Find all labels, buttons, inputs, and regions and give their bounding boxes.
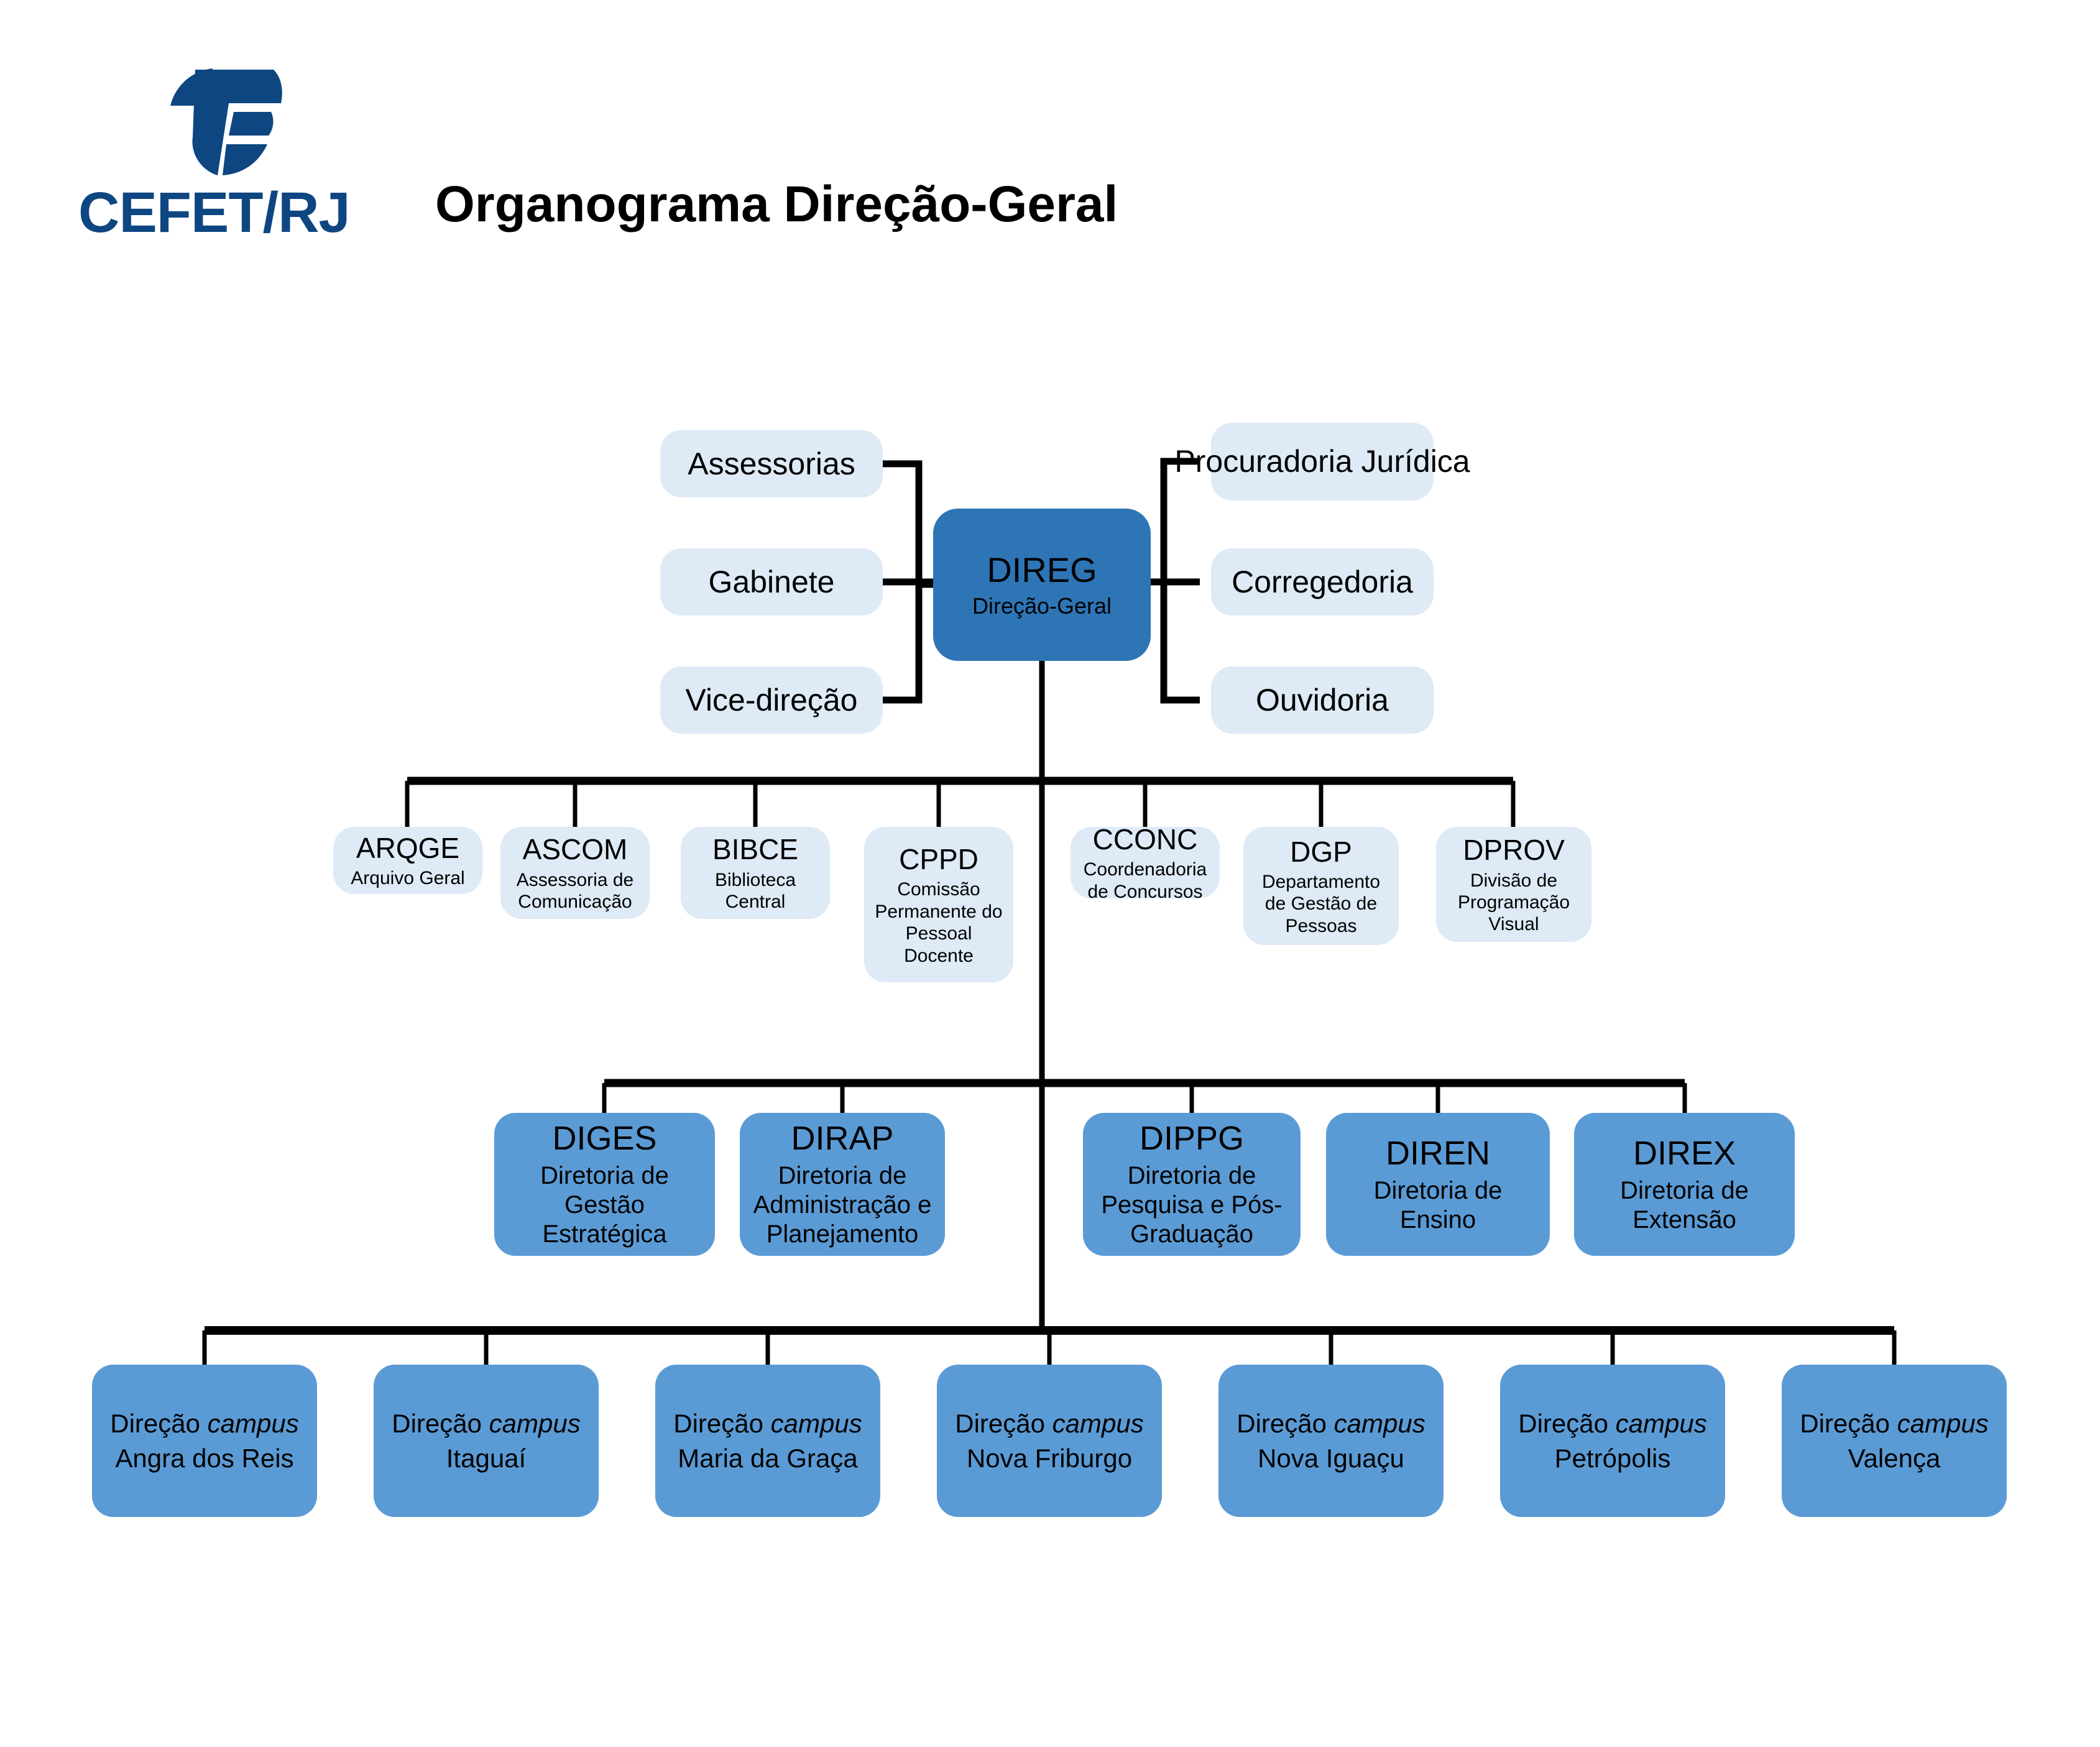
node-bibce-code: BIBCE — [712, 832, 798, 866]
node-cconc-desc: Coordenadoria de Concursos — [1077, 859, 1213, 903]
node-dgp-code: DGP — [1290, 835, 1352, 869]
node-gabinete-label: Gabinete — [709, 564, 835, 601]
node-dprov-desc: Divisão de Programação Visual — [1442, 870, 1585, 936]
node-dirap-desc: Diretoria de Administração e Planejament… — [746, 1161, 939, 1250]
node-direg[interactable]: DIREG Direção-Geral — [933, 509, 1151, 661]
node-cppd[interactable]: CPPD Comissão Permanente do Pessoal Doce… — [864, 827, 1013, 982]
node-dippg-desc: Diretoria de Pesquisa e Pós-Graduação — [1089, 1161, 1294, 1250]
node-arqge-code: ARQGE — [356, 831, 459, 865]
node-dirap-code: DIRAP — [791, 1119, 893, 1159]
node-dgp[interactable]: DGP Departamento de Gestão de Pessoas — [1243, 827, 1399, 945]
campus-prefix: Direção campus — [110, 1408, 298, 1439]
node-diren[interactable]: DIREN Diretoria de Ensino — [1326, 1113, 1550, 1256]
node-gabinete[interactable]: Gabinete — [660, 548, 883, 615]
campus-name: Maria da Graça — [678, 1443, 857, 1474]
campus-prefix: Direção campus — [673, 1408, 862, 1439]
node-assessorias[interactable]: Assessorias — [660, 430, 883, 497]
node-corregedoria-label: Corregedoria — [1232, 564, 1413, 601]
node-procuradoria-juridica[interactable]: Procuradoria Jurídica — [1211, 423, 1434, 500]
campus-prefix: Direção campus — [955, 1408, 1143, 1439]
node-dirap[interactable]: DIRAP Diretoria de Administração e Plane… — [740, 1113, 945, 1256]
node-diren-code: DIREN — [1386, 1134, 1490, 1174]
node-assessorias-label: Assessorias — [688, 446, 855, 482]
node-direg-code: DIREG — [987, 550, 1097, 591]
node-ascom[interactable]: ASCOM Assessoria de Comunicação — [500, 827, 650, 919]
node-bibce-desc: Biblioteca Central — [687, 869, 824, 913]
node-cppd-desc: Comissão Permanente do Pessoal Docente — [870, 878, 1007, 967]
node-dippg[interactable]: DIPPG Diretoria de Pesquisa e Pós-Gradua… — [1083, 1113, 1301, 1256]
organogram-page: CEFET/RJ Organograma Direção-Geral — [0, 0, 2100, 1747]
node-procuradoria-juridica-label: Procuradoria Jurídica — [1174, 445, 1470, 479]
node-campus-nova-iguacu[interactable]: Direção campus Nova Iguaçu — [1218, 1365, 1444, 1517]
node-corregedoria[interactable]: Corregedoria — [1211, 548, 1434, 615]
node-dprov-code: DPROV — [1463, 833, 1565, 867]
node-arqge[interactable]: ARQGE Arquivo Geral — [333, 827, 482, 894]
org-chart: DIREG Direção-Geral Assessorias Gabinete… — [0, 0, 2100, 1747]
campus-name: Itaguaí — [446, 1443, 526, 1474]
node-dippg-code: DIPPG — [1140, 1119, 1244, 1159]
node-ouvidoria-label: Ouvidoria — [1256, 682, 1389, 719]
node-vice-direcao-label: Vice-direção — [685, 682, 857, 719]
node-ouvidoria[interactable]: Ouvidoria — [1211, 666, 1434, 734]
node-campus-petropolis[interactable]: Direção campus Petrópolis — [1500, 1365, 1725, 1517]
node-diges-desc: Diretoria de Gestão Estratégica — [500, 1161, 709, 1250]
campus-prefix: Direção campus — [1237, 1408, 1425, 1439]
node-campus-itaguai[interactable]: Direção campus Itaguaí — [374, 1365, 599, 1517]
campus-prefix: Direção campus — [392, 1408, 580, 1439]
node-campus-angra-dos-reis[interactable]: Direção campus Angra dos Reis — [92, 1365, 317, 1517]
node-ascom-desc: Assessoria de Comunicação — [507, 869, 643, 913]
node-direg-desc: Direção-Geral — [972, 593, 1112, 619]
campus-name: Petrópolis — [1555, 1443, 1671, 1474]
node-cppd-code: CPPD — [899, 842, 979, 876]
campus-name: Nova Friburgo — [967, 1443, 1132, 1474]
node-campus-maria-da-graca[interactable]: Direção campus Maria da Graça — [655, 1365, 880, 1517]
node-diges-code: DIGES — [552, 1119, 656, 1159]
node-dgp-desc: Departamento de Gestão de Pessoas — [1250, 871, 1393, 937]
node-campus-valenca[interactable]: Direção campus Valença — [1782, 1365, 2007, 1517]
node-cconc-code: CCONC — [1093, 823, 1198, 856]
node-direx-desc: Diretoria de Extensão — [1580, 1176, 1789, 1235]
campus-name: Angra dos Reis — [115, 1443, 293, 1474]
node-bibce[interactable]: BIBCE Biblioteca Central — [681, 827, 830, 919]
node-arqge-desc: Arquivo Geral — [351, 867, 464, 889]
node-campus-nova-friburgo[interactable]: Direção campus Nova Friburgo — [937, 1365, 1162, 1517]
campus-name: Valença — [1848, 1443, 1941, 1474]
node-diges[interactable]: DIGES Diretoria de Gestão Estratégica — [494, 1113, 715, 1256]
node-vice-direcao[interactable]: Vice-direção — [660, 666, 883, 734]
campus-prefix: Direção campus — [1518, 1408, 1706, 1439]
node-dprov[interactable]: DPROV Divisão de Programação Visual — [1436, 827, 1591, 942]
node-cconc[interactable]: CCONC Coordenadoria de Concursos — [1071, 827, 1220, 898]
node-ascom-code: ASCOM — [523, 832, 628, 866]
node-direx[interactable]: DIREX Diretoria de Extensão — [1574, 1113, 1795, 1256]
campus-prefix: Direção campus — [1800, 1408, 1988, 1439]
node-direx-code: DIREX — [1633, 1134, 1736, 1174]
campus-name: Nova Iguaçu — [1258, 1443, 1404, 1474]
node-diren-desc: Diretoria de Ensino — [1332, 1176, 1544, 1235]
